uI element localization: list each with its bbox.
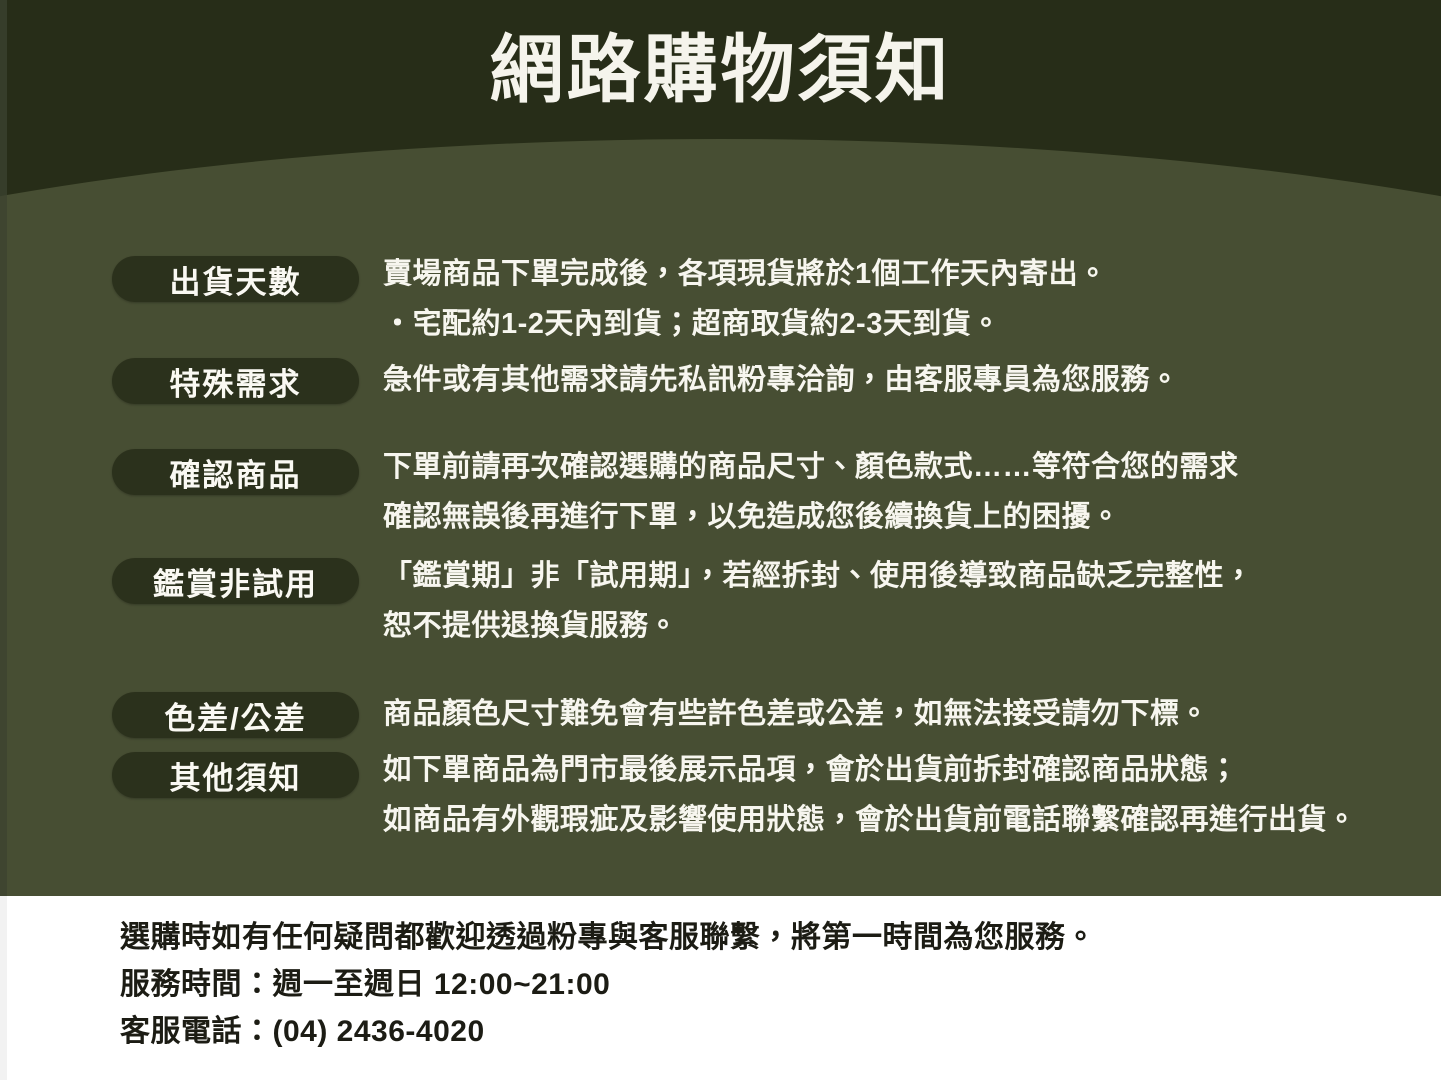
notice-line: 如下單商品為門市最後展示品項，會於出貨前拆封確認商品狀態；: [383, 745, 1413, 795]
notice-label-inspection-not-trial: 鑑賞非試用: [112, 558, 359, 604]
notice-line: 商品顏色尺寸難免會有些許色差或公差，如無法接受請勿下標。: [383, 689, 1413, 739]
notice-line: 急件或有其他需求請先私訊粉專洽詢，由客服專員為您服務。: [383, 355, 1413, 405]
notice-line: 如商品有外觀瑕疵及影響使用狀態，會於出貨前電話聯繫確認再進行出貨。: [383, 795, 1413, 845]
shopping-notice-poster: 網路購物須知 出貨天數 賣場商品下單完成後，各項現貨將於1個工作天內寄出。 ・宅…: [0, 0, 1441, 1080]
notice-line: 確認無誤後再進行下單，以免造成您後續換貨上的困擾。: [383, 492, 1413, 542]
notice-line: 賣場商品下單完成後，各項現貨將於1個工作天內寄出。: [383, 249, 1413, 299]
notice-body-special-request: 急件或有其他需求請先私訊粉專洽詢，由客服專員為您服務。: [383, 355, 1413, 405]
notice-line: 恕不提供退換貨服務。: [383, 601, 1413, 651]
notice-label-other-notes: 其他須知: [112, 752, 359, 798]
notice-body-other-notes: 如下單商品為門市最後展示品項，會於出貨前拆封確認商品狀態； 如商品有外觀瑕疵及影…: [383, 745, 1413, 845]
notice-body-color-size-tolerance: 商品顏色尺寸難免會有些許色差或公差，如無法接受請勿下標。: [383, 689, 1413, 739]
notice-label-shipping-days: 出貨天數: [112, 256, 359, 302]
footer-line-service-intro: 選購時如有任何疑問都歡迎透過粉專與客服聯繫，將第一時間為您服務。: [120, 914, 1096, 961]
green-panel: 網路購物須知 出貨天數 賣場商品下單完成後，各項現貨將於1個工作天內寄出。 ・宅…: [0, 0, 1441, 896]
notice-label-confirm-product: 確認商品: [112, 449, 359, 495]
notice-line: 下單前請再次確認選購的商品尺寸、顏色款式……等符合您的需求: [383, 442, 1413, 492]
notice-line: 「鑑賞期」非「試用期」，若經拆封、使用後導致商品缺乏完整性，: [383, 551, 1413, 601]
notice-line: ・宅配約1-2天內到貨；超商取貨約2-3天到貨。: [383, 299, 1413, 349]
notice-body-confirm-product: 下單前請再次確認選購的商品尺寸、顏色款式……等符合您的需求 確認無誤後再進行下單…: [383, 442, 1413, 542]
page-title: 網路購物須知: [0, 24, 1441, 116]
footer-text-block: 選購時如有任何疑問都歡迎透過粉專與客服聯繫，將第一時間為您服務。 服務時間：週一…: [120, 914, 1096, 1055]
notice-body-inspection-not-trial: 「鑑賞期」非「試用期」，若經拆封、使用後導致商品缺乏完整性， 恕不提供退換貨服務…: [383, 551, 1413, 651]
footer-line-service-phone: 客服電話：(04) 2436-4020: [120, 1008, 1096, 1055]
contact-footer: 選購時如有任何疑問都歡迎透過粉專與客服聯繫，將第一時間為您服務。 服務時間：週一…: [0, 896, 1441, 1080]
left-edge-strip: [0, 0, 7, 896]
footer-line-service-hours: 服務時間：週一至週日 12:00~21:00: [120, 961, 1096, 1008]
notice-body-shipping-days: 賣場商品下單完成後，各項現貨將於1個工作天內寄出。 ・宅配約1-2天內到貨；超商…: [383, 249, 1413, 349]
notice-label-color-size-tolerance: 色差/公差: [112, 692, 359, 738]
footer-left-edge-strip: [0, 896, 7, 1080]
notice-label-special-request: 特殊需求: [112, 358, 359, 404]
